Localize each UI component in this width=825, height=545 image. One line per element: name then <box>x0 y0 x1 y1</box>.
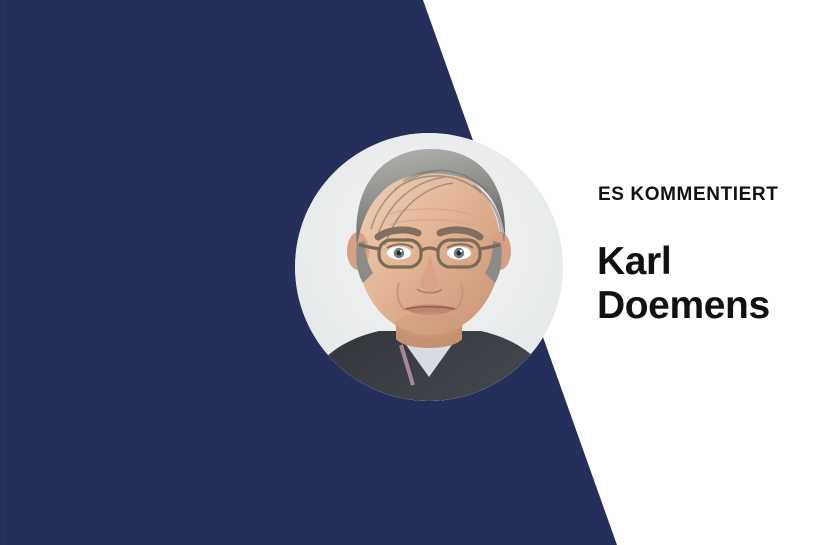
navy-accent-line <box>4 0 5 545</box>
author-name-line-1: Karl <box>597 240 812 284</box>
author-name: Karl Doemens <box>597 240 812 328</box>
portrait-illustration <box>295 133 563 401</box>
author-name-line-2: Doemens <box>597 284 812 328</box>
kicker-label: ES KOMMENTIERT <box>598 185 778 204</box>
karl-doemens-portrait <box>295 133 563 401</box>
byline-banner: ES KOMMENTIERT Karl Doemens <box>0 0 825 545</box>
